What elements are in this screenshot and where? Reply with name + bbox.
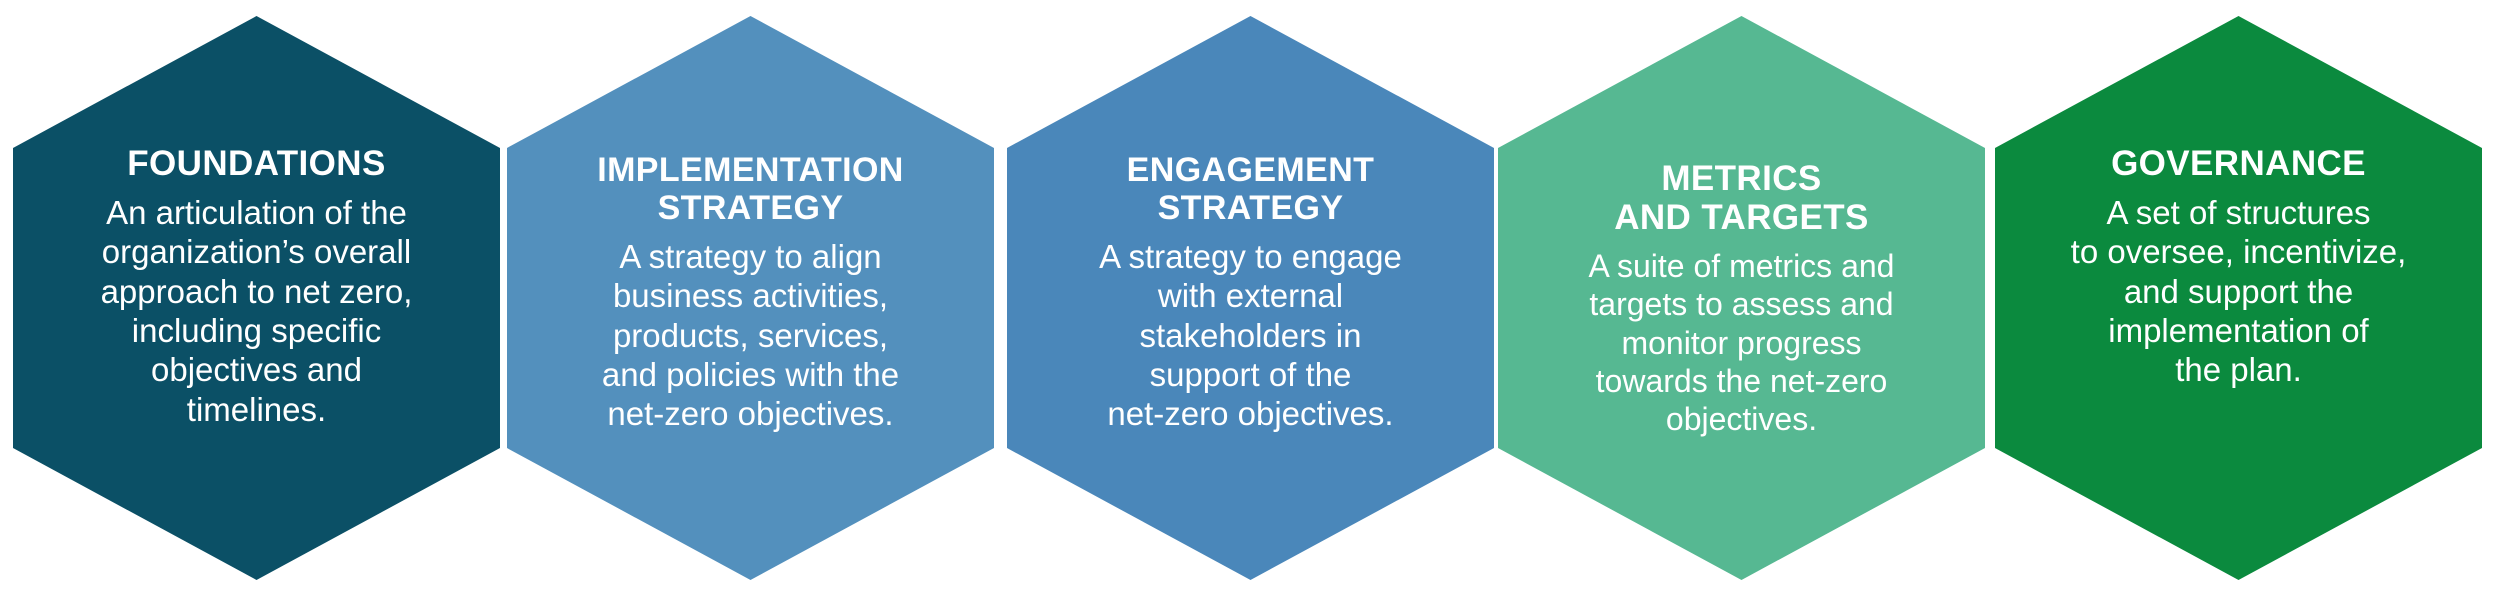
hexagon-governance[interactable]: GOVERNANCE A set of structures to overse… xyxy=(1995,16,2482,580)
hexagon-body-engagement-strategy: A strategy to engage with external stake… xyxy=(1017,227,1484,433)
hexagon-body-implementation-strategy: A strategy to align business activities,… xyxy=(517,227,984,433)
hexagon-title-engagement-strategy: ENGAGEMENT STRATEGY xyxy=(1017,151,1484,227)
hexagon-implementation-strategy[interactable]: IMPLEMENTATION STRATEGY A strategy to al… xyxy=(507,16,994,580)
hexagon-content-implementation-strategy: IMPLEMENTATION STRATEGY A strategy to al… xyxy=(517,16,984,433)
hexagon-content-engagement-strategy: ENGAGEMENT STRATEGY A strategy to engage… xyxy=(1017,16,1484,433)
hexagon-diagram: FOUNDATIONS An articulation of the organ… xyxy=(0,0,2504,600)
hexagon-title-foundations: FOUNDATIONS xyxy=(23,144,490,183)
hexagon-content-metrics-and-targets: METRICS AND TARGETS A suite of metrics a… xyxy=(1508,16,1975,438)
hexagon-title-governance: GOVERNANCE xyxy=(2005,144,2472,183)
hexagon-body-governance: A set of structures to oversee, incentiv… xyxy=(2005,183,2472,389)
hexagon-metrics-and-targets[interactable]: METRICS AND TARGETS A suite of metrics a… xyxy=(1498,16,1985,580)
hexagon-content-governance: GOVERNANCE A set of structures to overse… xyxy=(2005,16,2472,390)
hexagon-engagement-strategy[interactable]: ENGAGEMENT STRATEGY A strategy to engage… xyxy=(1007,16,1494,580)
hexagon-content-foundations: FOUNDATIONS An articulation of the organ… xyxy=(23,16,490,429)
hexagon-title-implementation-strategy: IMPLEMENTATION STRATEGY xyxy=(517,151,984,227)
hexagon-body-foundations: An articulation of the organization’s ov… xyxy=(23,183,490,429)
hexagon-foundations[interactable]: FOUNDATIONS An articulation of the organ… xyxy=(13,16,500,580)
hexagon-title-metrics-and-targets: METRICS AND TARGETS xyxy=(1508,159,1975,237)
hexagon-body-metrics-and-targets: A suite of metrics and targets to assess… xyxy=(1508,237,1975,437)
